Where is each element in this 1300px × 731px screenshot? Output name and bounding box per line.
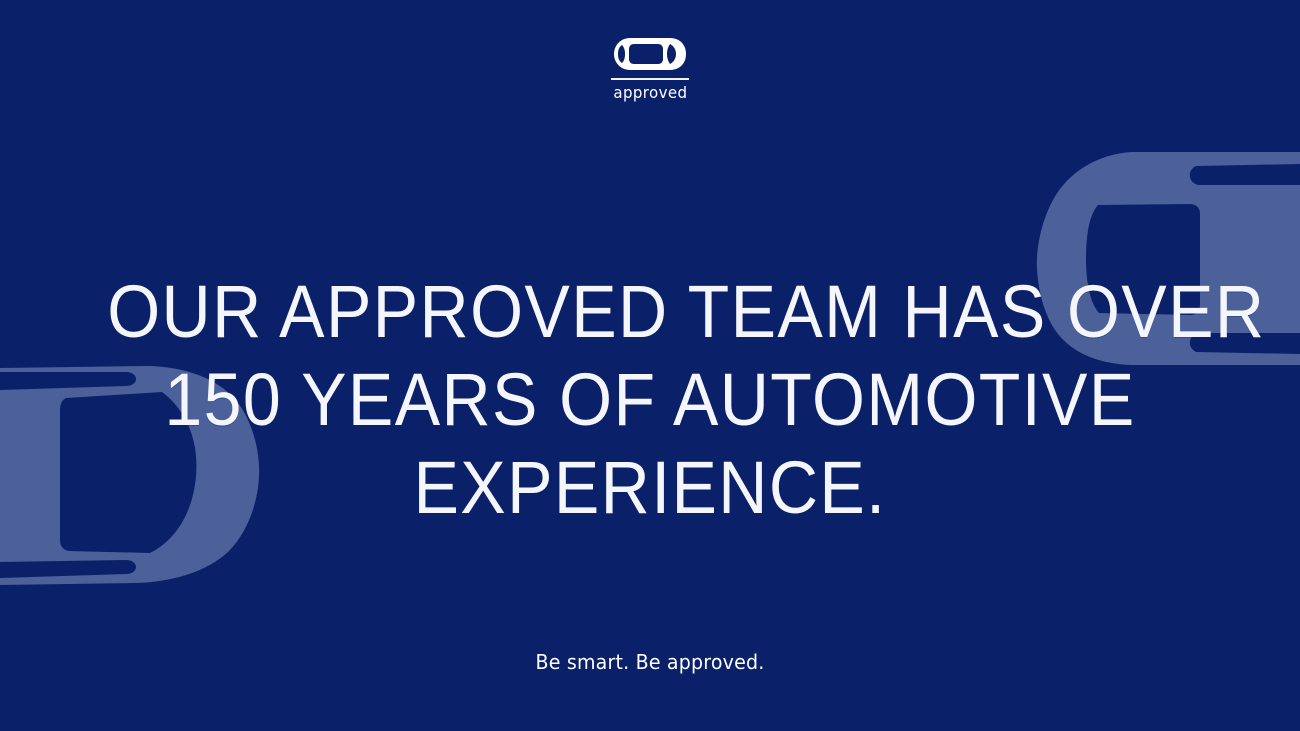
- slide-canvas: approved OUR APPROVED TEAM HAS OVER 150 …: [0, 0, 1300, 731]
- headline-line-2: 150 YEARS OF AUTOMOTIVE: [107, 356, 1193, 444]
- logo-divider: [611, 78, 689, 80]
- brand-logo: approved: [0, 36, 1300, 101]
- headline-line-3: EXPERIENCE.: [107, 444, 1193, 532]
- tagline: Be smart. Be approved.: [33, 652, 1268, 672]
- logo-wordmark: approved: [613, 85, 687, 101]
- headline-line-1: OUR APPROVED TEAM HAS OVER: [107, 268, 1193, 356]
- car-top-view-icon: [612, 36, 688, 72]
- headline: OUR APPROVED TEAM HAS OVER 150 YEARS OF …: [60, 268, 1240, 532]
